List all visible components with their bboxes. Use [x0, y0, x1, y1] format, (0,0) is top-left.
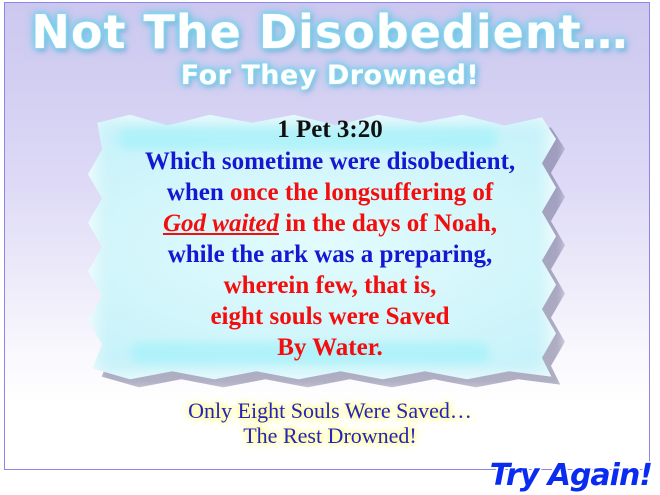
scripture-line: eight souls were Saved — [60, 301, 600, 332]
scripture-line: when once the longsuffering of — [60, 177, 600, 208]
scripture-line: while the ark was a preparing, — [60, 239, 600, 270]
scripture-segment: once the longsuffering of — [230, 179, 493, 206]
scripture-line: Which sometime were disobedient, — [60, 146, 600, 177]
scripture-segment: while the ark was a preparing, — [168, 241, 493, 268]
scripture-line: By Water. — [60, 332, 600, 363]
scripture-block: 1 Pet 3:20 Which sometime were disobedie… — [60, 114, 600, 363]
scripture-segment: eight souls were Saved — [210, 303, 449, 330]
scripture-segment: By Water. — [277, 334, 383, 361]
scripture-segment: in the days of Noah, — [279, 210, 497, 237]
scripture-segment: wherein few, that is, — [224, 272, 437, 299]
caption-line-2: The Rest Drowned! — [0, 423, 660, 448]
summary-caption: Only Eight Souls Were Saved… The Rest Dr… — [0, 398, 660, 448]
scripture-segment: when — [167, 179, 230, 206]
scripture-reference: 1 Pet 3:20 — [60, 114, 600, 145]
try-again-button[interactable]: Try Again! — [490, 458, 652, 493]
scripture-line: wherein few, that is, — [60, 270, 600, 301]
caption-line-1: Only Eight Souls Were Saved… — [0, 398, 660, 423]
scripture-segment: Which sometime were disobedient, — [145, 148, 515, 175]
scripture-line: God waited in the days of Noah, — [60, 208, 600, 239]
quiz-feedback-slide: Not The Disobedient… For They Drowned! 1… — [0, 0, 660, 495]
scripture-lines: Which sometime were disobedient,when onc… — [60, 146, 600, 363]
scripture-segment: God waited — [163, 210, 279, 237]
